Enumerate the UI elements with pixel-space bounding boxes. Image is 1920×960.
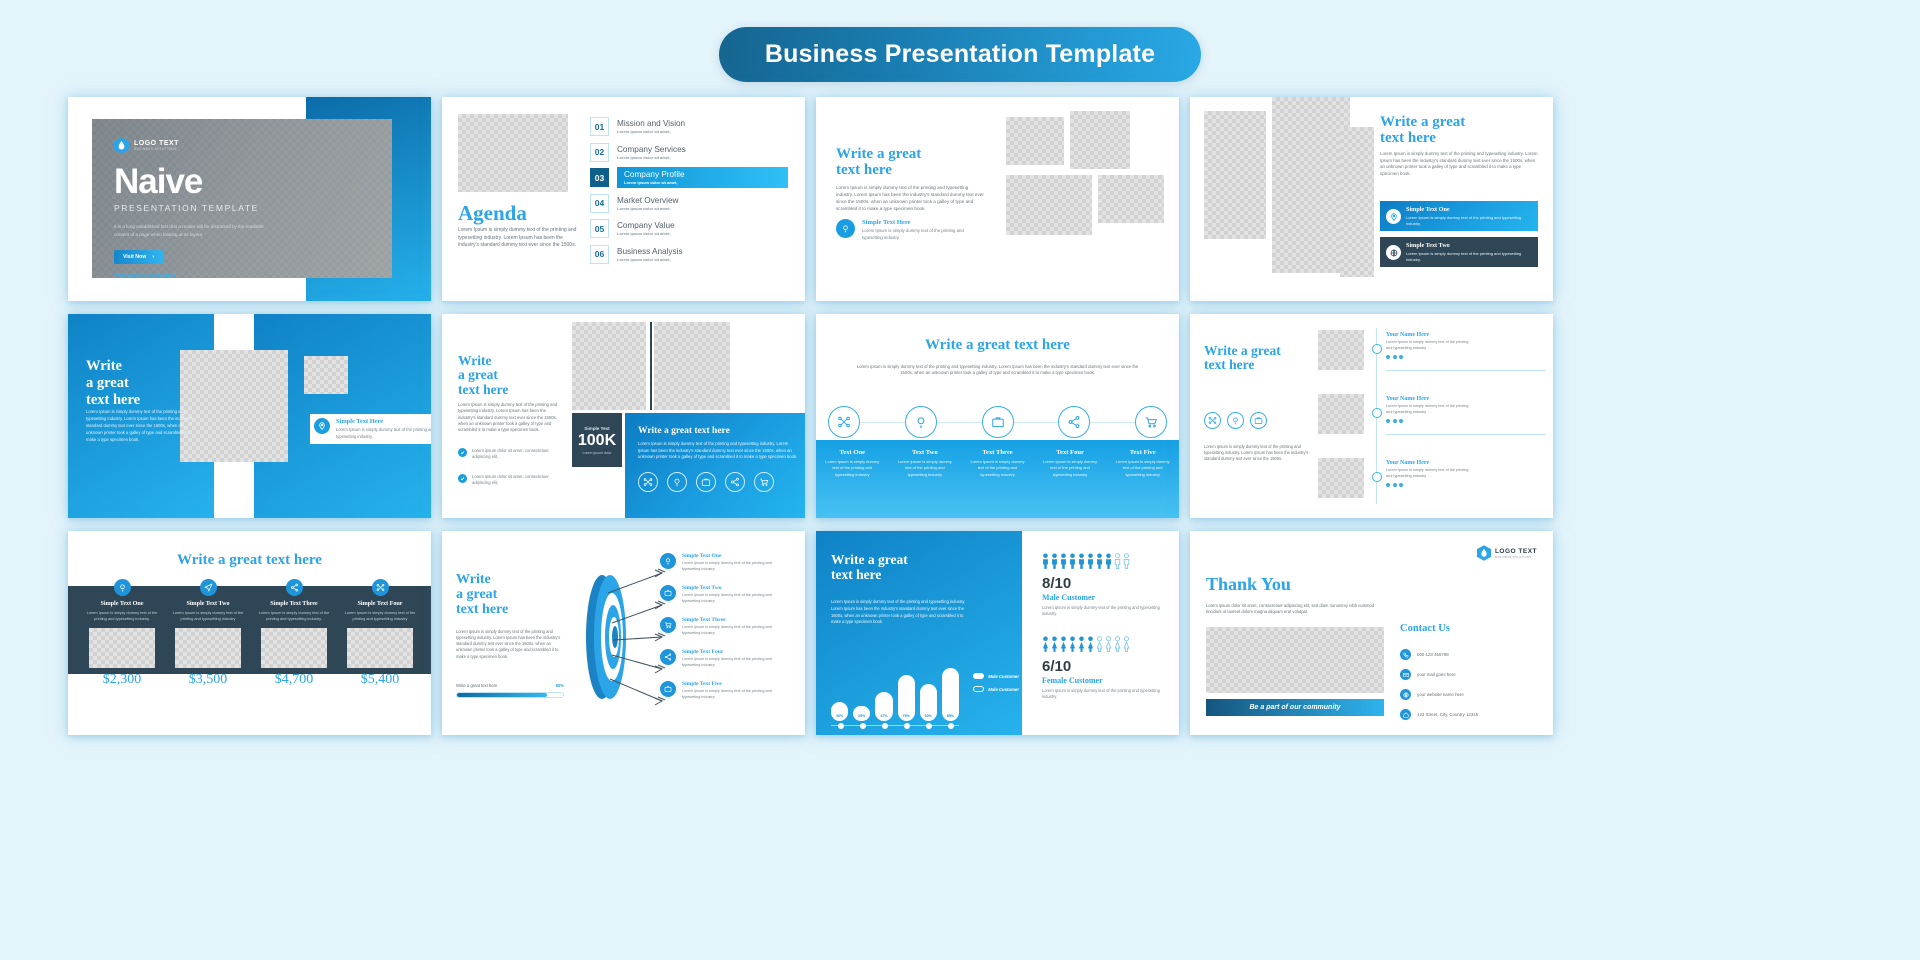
contact-text: your website name here: [1417, 692, 1464, 697]
location-icon: [1400, 709, 1411, 720]
target-item: Simple Text Five Lorem Ipsum is simply d…: [660, 681, 790, 701]
cover-website: your website name here: [114, 273, 392, 278]
item-title: Simple Text Five: [682, 681, 790, 687]
axis-dot: [904, 723, 910, 729]
slide-heading: Write a great text here: [68, 553, 431, 569]
axis-dot: [948, 723, 954, 729]
agenda-sublabel: Lorem ipsum dolor sit amet,: [617, 155, 686, 160]
image-placeholder: [89, 628, 155, 668]
logo-text: LOGO TEXT: [1495, 548, 1537, 555]
card-title: Simple Text One: [1406, 206, 1531, 213]
column-title: Simple Text Three: [252, 601, 336, 607]
social-dots[interactable]: [1386, 419, 1471, 423]
legend-swatch-outline: [973, 686, 984, 692]
stat-label: Male Customer: [1042, 593, 1165, 602]
agenda-description: Lorem Ipsum is simply dummy text of the …: [458, 227, 578, 250]
image-placeholder: [572, 322, 646, 410]
axis-dot: [882, 723, 888, 729]
pricing-column[interactable]: Simple Text Three Lorem Ipsum is simply …: [252, 579, 336, 688]
agenda-label: Company Value: [617, 221, 675, 230]
slide-heading: Write a great text here: [86, 358, 196, 409]
briefcase-icon: [660, 585, 676, 601]
chart-bar: 30%: [831, 702, 848, 721]
item-description: Lorem Ipsum is simply dummy text of the …: [682, 561, 790, 573]
bullet-item: Lorem ipsum dolor sit amet, consectetuer…: [458, 448, 563, 461]
target-item: Simple Text Four Lorem Ipsum is simply d…: [660, 649, 790, 669]
slide-2-agenda[interactable]: Agenda Lorem Ipsum is simply dummy text …: [442, 97, 805, 301]
slide-10-target[interactable]: Write a great text here Lorem Ipsum is s…: [442, 531, 805, 735]
check-icon: [458, 448, 467, 457]
column-price: $4,700: [252, 672, 336, 688]
agenda-number: 03: [590, 168, 609, 187]
timeline-node: [1372, 472, 1382, 482]
timeline-step: Text Three Lorem Ipsum is simply dummy t…: [961, 440, 1034, 518]
cover-title: Naive: [114, 162, 392, 202]
agenda-title: Agenda: [458, 202, 527, 224]
contact-row-mail[interactable]: your mail goes here: [1400, 669, 1456, 680]
target-item: Simple Text One Lorem Ipsum is simply du…: [660, 553, 790, 573]
contact-row-phone[interactable]: 000 123 456789: [1400, 649, 1449, 660]
person-icon: [1087, 636, 1094, 652]
member-description: Lorem Ipsum is simply dummy text of the …: [1386, 468, 1471, 480]
logo: LOGO TEXT BUSINESS SOLUTIONS: [114, 137, 392, 154]
briefcase-icon[interactable]: [982, 406, 1014, 438]
legend-entry: Male Customer: [973, 673, 1019, 679]
target-item: Simple Text Two Lorem Ipsum is simply du…: [660, 585, 790, 605]
step-description: Lorem Ipsum is simply dummy text of the …: [897, 459, 954, 478]
bulb-icon: [660, 553, 676, 569]
icon-row: [638, 472, 805, 492]
cover-description: It is a long established fact that a rea…: [114, 223, 274, 240]
person-icon: [1060, 636, 1067, 652]
step-title: Text Two: [897, 449, 954, 456]
bar-chart: 30% 25% 47% 75% 60% 85%: [831, 659, 959, 721]
pricing-column[interactable]: Simple Text Four Lorem Ipsum is simply d…: [338, 579, 422, 688]
contact-text: 000 123 456789: [1417, 652, 1449, 657]
stat-label: Simple Text: [584, 426, 609, 431]
column-description: Lorem Ipsum is simply dummy text of the …: [338, 610, 422, 622]
globe-icon: [1400, 689, 1411, 700]
step-title: Text One: [824, 449, 881, 456]
image-placeholder: [1318, 458, 1364, 498]
slide-1-cover[interactable]: LOGO TEXT BUSINESS SOLUTIONS Naive PRESE…: [68, 97, 431, 301]
slide-7-timeline[interactable]: Write a great text here Lorem Ipsum is s…: [816, 314, 1179, 518]
agenda-sublabel: Lorem ipsum dolor sit amet,: [617, 257, 683, 262]
slide-description: Lorem Ipsum is simply dummy text of the …: [1204, 444, 1312, 462]
logo: LOGO TEXT BUSINESS SOLUTIONS: [1477, 545, 1537, 561]
send-icon: [200, 579, 217, 596]
axis-dot: [860, 723, 866, 729]
stat-description: Lorem Ipsum is simply dummy text of the …: [1042, 605, 1162, 618]
slide-description: Lorem Ipsum is simply dummy text of the …: [86, 409, 198, 444]
bulb-icon[interactable]: [667, 472, 687, 492]
column-title: Simple Text Four: [338, 601, 422, 607]
location-pin-icon: [1386, 209, 1401, 224]
divider: [650, 322, 652, 410]
team-member: Your Name Here Lorem Ipsum is simply dum…: [1386, 396, 1471, 423]
slide-description: Lorem Ipsum is simply dummy text of the …: [1380, 151, 1540, 177]
item-title: Simple Text Three: [682, 617, 790, 623]
stat-card: Simple Text 100K Lorem ipsum dolor: [572, 413, 622, 467]
agenda-label: Mission and Vision: [617, 119, 685, 128]
logo-subtext: BUSINESS SOLUTIONS: [134, 147, 179, 151]
target-item: Simple Text Three Lorem Ipsum is simply …: [660, 617, 790, 637]
slide-description: Lorem Ipsum is simply dummy text of the …: [456, 629, 561, 660]
step-title: Text Four: [1042, 449, 1099, 456]
cover-subtitle: PRESENTATION TEMPLATE: [114, 203, 392, 213]
stat-block-male: 8/10 Male Customer Lorem Ipsum is simply…: [1042, 553, 1165, 618]
slide-4-two-cards[interactable]: Write a great text here Lorem Ipsum is s…: [1190, 97, 1553, 301]
network-icon[interactable]: [828, 406, 860, 438]
legend-entry: Male Customer: [973, 686, 1019, 692]
bulb-icon: [114, 579, 131, 596]
card-description: Lorem Ipsum is simply dummy text of the …: [1406, 215, 1531, 227]
bar-value: 30%: [836, 714, 843, 718]
person-icon: [1042, 553, 1049, 569]
agenda-number: 04: [590, 194, 609, 213]
progress-bar: [456, 692, 564, 698]
visit-now-button[interactable]: Visit Now ›: [114, 250, 163, 264]
timeline-step: Text One Lorem Ipsum is simply dummy tex…: [816, 440, 889, 518]
person-icon: [1060, 553, 1067, 569]
image-placeholder: [1070, 111, 1130, 169]
thank-you-description: Lorem ipsum dolor sit amet, consectetuer…: [1206, 603, 1384, 616]
briefcase-icon[interactable]: [1250, 412, 1267, 429]
bar-value: 60%: [925, 714, 932, 718]
timeline-nodes: [828, 406, 1167, 438]
social-dots[interactable]: [1386, 355, 1471, 359]
logo-text: LOGO TEXT: [134, 140, 179, 147]
step-description: Lorem Ipsum is simply dummy text of the …: [1114, 459, 1171, 478]
agenda-item[interactable]: 02 Company Services Lorem ipsum dolor si…: [590, 140, 788, 166]
network-icon[interactable]: [1204, 412, 1221, 429]
column-description: Lorem Ipsum is simply dummy text of the …: [252, 610, 336, 622]
timeline-node: [1372, 408, 1382, 418]
image-placeholder: [1006, 117, 1064, 165]
mail-icon: [1400, 669, 1411, 680]
image-placeholder: [175, 628, 241, 668]
cover-card: LOGO TEXT BUSINESS SOLUTIONS Naive PRESE…: [92, 119, 392, 278]
card-title: Simple Text Two: [1406, 242, 1531, 249]
image-placeholder: [1272, 97, 1350, 273]
bar-value: 47%: [880, 714, 887, 718]
icon-row: [1204, 412, 1267, 429]
location-pin-icon: [314, 418, 330, 434]
person-icon-empty: [1114, 636, 1121, 652]
slide-5-blue-split[interactable]: Write a great text here Lorem Ipsum is s…: [68, 314, 431, 518]
bar-value: 75%: [903, 714, 910, 718]
globe-icon: [1386, 245, 1401, 260]
person-icon: [1069, 553, 1076, 569]
slide-8-team[interactable]: Write a great text here Lorem Ipsum is s…: [1190, 314, 1553, 518]
step-title: Text Five: [1114, 449, 1171, 456]
column-title: Simple Text One: [80, 601, 164, 607]
feature-card-two[interactable]: Simple Text Two Lorem Ipsum is simply du…: [1380, 237, 1538, 267]
feature-description: Lorem Ipsum is simply dummy text of the …: [862, 228, 977, 241]
step-title: Text Three: [969, 449, 1026, 456]
chart-bar: 60%: [920, 684, 937, 721]
item-description: Lorem Ipsum is simply dummy text of the …: [682, 625, 790, 637]
timeline-step: Text Two Lorem Ipsum is simply dummy tex…: [889, 440, 962, 518]
axis-dot: [926, 723, 932, 729]
bulb-icon[interactable]: [1227, 412, 1244, 429]
person-icon: [1069, 636, 1076, 652]
slide-heading: Write a great text here: [458, 354, 553, 397]
feature-card-one[interactable]: Simple Text One Lorem Ipsum is simply du…: [1380, 201, 1538, 231]
bar-value: 85%: [947, 714, 954, 718]
legend-label: Male Customer: [988, 687, 1019, 692]
image-placeholder: [1206, 627, 1384, 693]
legend-swatch-filled: [973, 673, 984, 679]
item-description: Lorem Ipsum is simply dummy text of the …: [682, 657, 790, 669]
timeline-step: Text Four Lorem Ipsum is simply dummy te…: [1034, 440, 1107, 518]
person-icon: [1051, 636, 1058, 652]
column-description: Lorem Ipsum is simply dummy text of the …: [80, 610, 164, 622]
stat-label: Female Customer: [1042, 676, 1165, 685]
stat-description: Lorem Ipsum is simply dummy text of the …: [1042, 688, 1162, 701]
person-icon: [1078, 553, 1085, 569]
feature-block: Simple Text Here Lorem Ipsum is simply d…: [310, 414, 431, 444]
chart-legend: Male Customer Male Customer: [973, 673, 1019, 699]
member-name: Your Name Here: [1386, 396, 1471, 402]
image-placeholder: [1318, 330, 1364, 370]
column-price: $2,300: [80, 672, 164, 688]
image-placeholder: [1204, 111, 1266, 239]
slide-heading: Write a great text here: [1380, 115, 1530, 147]
member-description: Lorem Ipsum is simply dummy text of the …: [1386, 340, 1471, 352]
agenda-sublabel: Lorem ipsum dolor sit amet,: [624, 180, 781, 185]
slide-11-customers[interactable]: Write a great text here Lorem Ipsum is s…: [816, 531, 1179, 735]
bullet-item: Lorem ipsum dolor sit amet, consectetuer…: [458, 474, 563, 487]
horizontal-rule: [1386, 434, 1546, 435]
image-placeholder: [1098, 175, 1164, 223]
page-title: Business Presentation Template: [719, 27, 1201, 82]
stat-value: 6/10: [1042, 658, 1165, 675]
member-description: Lorem Ipsum is simply dummy text of the …: [1386, 404, 1471, 416]
progress-value: 85%: [556, 683, 564, 688]
agenda-label: Company Profile: [624, 170, 781, 179]
image-placeholder: [261, 628, 327, 668]
agenda-label: Company Services: [617, 145, 686, 154]
slide-6-stat-panel[interactable]: Write a great text here Lorem Ipsum is s…: [442, 314, 805, 518]
person-icon: [1105, 553, 1112, 569]
person-icon-empty: [1105, 636, 1112, 652]
timeline-node: [1372, 344, 1382, 354]
panel-description: Lorem Ipsum is simply dummy text of the …: [638, 441, 798, 461]
card-description: Lorem Ipsum is simply dummy text of the …: [1406, 251, 1531, 263]
community-button[interactable]: Be a part of our community: [1206, 699, 1384, 716]
person-icon: [1087, 553, 1094, 569]
progress-labels: Write a great text here 85%: [456, 683, 564, 688]
check-icon: [458, 474, 467, 483]
team-member: Your Name Here Lorem Ipsum is simply dum…: [1386, 460, 1471, 487]
slide-description: Lorem Ipsum is simply dummy text of the …: [836, 185, 986, 213]
slide-description: Lorem Ipsum is simply dummy text of the …: [458, 402, 558, 433]
step-description: Lorem Ipsum is simply dummy text of the …: [1042, 459, 1099, 478]
column-title: Simple Text Two: [166, 601, 250, 607]
team-member: Your Name Here Lorem Ipsum is simply dum…: [1386, 332, 1471, 359]
person-icon: [1096, 553, 1103, 569]
slide-heading: Write a great text here: [831, 553, 951, 583]
slides-grid: LOGO TEXT BUSINESS SOLUTIONS Naive PRESE…: [68, 97, 1858, 735]
agenda-item[interactable]: 05 Company Value Lorem ipsum dolor sit a…: [590, 216, 788, 242]
slide-heading: Write a great text here: [836, 147, 966, 179]
cart-icon[interactable]: [754, 472, 774, 492]
image-placeholder: [458, 114, 568, 192]
agenda-sublabel: Lorem ipsum dolor sit amet,: [617, 206, 678, 211]
stats-panel: 8/10 Male Customer Lorem Ipsum is simply…: [1028, 531, 1179, 735]
header-banner-wrap: Business Presentation Template: [0, 0, 1920, 82]
column-price: $5,400: [338, 672, 422, 688]
briefcase-icon[interactable]: [696, 472, 716, 492]
person-icon-empty: [1096, 636, 1103, 652]
logo-subtext: BUSINESS SOLUTIONS: [1495, 555, 1537, 559]
item-description: Lorem Ipsum is simply dummy text of the …: [682, 593, 790, 605]
hexagon-logo-icon: [1477, 545, 1491, 561]
share-icon: [660, 649, 676, 665]
agenda-list: 01 Mission and Vision Lorem ipsum dolor …: [590, 114, 788, 267]
pricing-column[interactable]: Simple Text Two Lorem Ipsum is simply du…: [166, 579, 250, 688]
contact-row-address[interactable]: 123 Street, City, Country 12345: [1400, 709, 1478, 720]
hexagon-logo-icon: [114, 137, 129, 154]
timeline-band: Text One Lorem Ipsum is simply dummy tex…: [816, 440, 1179, 518]
chart-axis: [831, 725, 959, 726]
slide-description: Lorem Ipsum is simply dummy text of the …: [831, 599, 971, 626]
slide-heading: Write a great text here: [456, 573, 546, 617]
person-icon: [1051, 553, 1058, 569]
visit-now-label: Visit Now: [123, 254, 146, 260]
agenda-number: 01: [590, 117, 609, 136]
bulb-icon[interactable]: [905, 406, 937, 438]
stat-value: 100K: [578, 432, 616, 450]
social-dots[interactable]: [1386, 483, 1471, 487]
chart-bar: 47%: [875, 692, 892, 721]
person-icon-empty: [1114, 553, 1121, 569]
image-placeholder: [347, 628, 413, 668]
image-placeholder: [304, 356, 348, 394]
agenda-number: 06: [590, 245, 609, 264]
image-placeholder: [654, 322, 730, 410]
share-icon[interactable]: [725, 472, 745, 492]
cart-icon[interactable]: [1135, 406, 1167, 438]
person-icon-empty: [1123, 553, 1130, 569]
image-placeholder: [1318, 394, 1364, 434]
slide-description: Lorem Ipsum is simply dummy text of the …: [852, 364, 1143, 377]
bullet-text: Lorem ipsum dolor sit amet, consectetuer…: [472, 448, 563, 461]
bar-value: 25%: [858, 714, 865, 718]
slide-heading: Write a great text here: [1204, 344, 1304, 373]
pricing-column[interactable]: Simple Text One Lorem Ipsum is simply du…: [80, 579, 164, 688]
person-icon: [1042, 636, 1049, 652]
item-title: Simple Text One: [682, 553, 790, 559]
progress-label: Write a great text here: [456, 683, 497, 688]
contact-row-website[interactable]: your website name here: [1400, 689, 1464, 700]
phone-icon: [1400, 649, 1411, 660]
image-placeholder: [1340, 127, 1374, 277]
agenda-item-active[interactable]: 03 Company Profile Lorem ipsum dolor sit…: [590, 165, 788, 191]
agenda-item[interactable]: 01 Mission and Vision Lorem ipsum dolor …: [590, 114, 788, 140]
slide-heading: Write a great text here: [816, 338, 1179, 354]
contact-title: Contact Us: [1400, 623, 1450, 634]
image-placeholder: [1006, 175, 1092, 235]
feature-block: Simple Text Here Lorem Ipsum is simply d…: [836, 219, 977, 241]
item-title: Simple Text Two: [682, 585, 790, 591]
timeline-step: Text Five Lorem Ipsum is simply dummy te…: [1106, 440, 1179, 518]
item-description: Lorem Ipsum is simply dummy text of the …: [682, 689, 790, 701]
contact-text: 123 Street, City, Country 12345: [1417, 712, 1478, 717]
stat-block-female: 6/10 Female Customer Lorem Ipsum is simp…: [1042, 636, 1165, 701]
member-name: Your Name Here: [1386, 460, 1471, 466]
agenda-label: Business Analysis: [617, 247, 683, 256]
network-icon: [372, 579, 389, 596]
agenda-label: Market Overview: [617, 196, 678, 205]
people-icons-row: [1042, 636, 1165, 652]
briefcase-icon: [660, 681, 676, 697]
stat-sublabel: Lorem ipsum dolor: [583, 451, 612, 455]
slide-9-pricing[interactable]: Write a great text here Simple Text One …: [68, 531, 431, 735]
agenda-number: 05: [590, 219, 609, 238]
slide-3-gallery[interactable]: Write a great text here Lorem Ipsum is s…: [816, 97, 1179, 301]
feature-title: Simple Text Here: [336, 418, 431, 425]
panel-title: Write a great text here: [638, 426, 805, 436]
share-icon[interactable]: [1058, 406, 1090, 438]
chart-bar: 85%: [942, 668, 959, 721]
chart-bar: 75%: [898, 675, 915, 722]
person-icon: [1078, 636, 1085, 652]
feature-description: Lorem Ipsum is simply dummy text of the …: [336, 427, 431, 440]
feature-title: Simple Text Here: [862, 219, 977, 226]
member-name: Your Name Here: [1386, 332, 1471, 338]
item-title: Simple Text Four: [682, 649, 790, 655]
step-description: Lorem Ipsum is simply dummy text of the …: [969, 459, 1026, 478]
stat-value: 8/10: [1042, 575, 1165, 592]
agenda-sublabel: Lorem ipsum dolor sit amet,: [617, 231, 675, 236]
step-description: Lorem Ipsum is simply dummy text of the …: [824, 459, 881, 478]
blue-info-panel: Write a great text here Lorem Ipsum is s…: [625, 413, 805, 518]
axis-dot: [838, 723, 844, 729]
people-icons-row: [1042, 553, 1165, 569]
chevron-right-icon: ›: [152, 254, 154, 260]
agenda-item[interactable]: 04 Market Overview Lorem ipsum dolor sit…: [590, 191, 788, 217]
chart-bar: 25%: [853, 706, 870, 722]
slide-12-thank-you[interactable]: LOGO TEXT BUSINESS SOLUTIONS Thank You L…: [1190, 531, 1553, 735]
share-icon: [286, 579, 303, 596]
person-icon-empty: [1123, 636, 1130, 652]
agenda-sublabel: Lorem ipsum dolor sit amet,: [617, 129, 685, 134]
bulb-icon: [836, 219, 855, 238]
legend-label: Male Customer: [988, 674, 1019, 679]
contact-text: your mail goes here: [1417, 672, 1456, 677]
agenda-item[interactable]: 06 Business Analysis Lorem ipsum dolor s…: [590, 242, 788, 268]
horizontal-rule: [1386, 370, 1546, 371]
agenda-number: 02: [590, 143, 609, 162]
column-description: Lorem Ipsum is simply dummy text of the …: [166, 610, 250, 622]
bullet-text: Lorem ipsum dolor sit amet, consectetuer…: [472, 474, 563, 487]
cart-icon: [660, 617, 676, 633]
network-icon[interactable]: [638, 472, 658, 492]
column-price: $3,500: [166, 672, 250, 688]
image-placeholder: [180, 350, 288, 462]
thank-you-heading: Thank You: [1206, 575, 1291, 594]
